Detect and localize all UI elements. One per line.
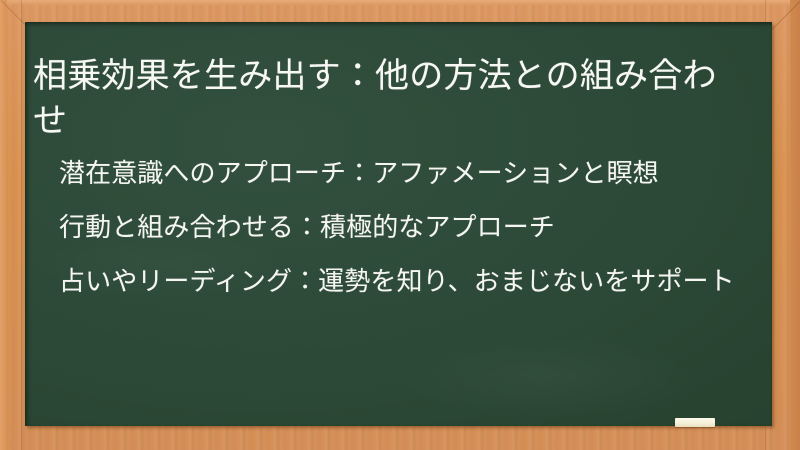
- list-item: 潜在意識へのアプローチ：アファメーションと瞑想: [59, 155, 753, 192]
- chalkboard-surface: 相乗効果を生み出す：他の方法との組み合わせ 潜在意識へのアプローチ：アファメーシ…: [25, 22, 772, 426]
- list-item: 占いやリーディング：運勢を知り、おまじないをサポート: [59, 263, 753, 300]
- frame-bevel-right: [790, 0, 800, 450]
- frame-bevel-left: [0, 0, 7, 450]
- bullet-list: 潜在意識へのアプローチ：アファメーションと瞑想 行動と組み合わせる：積極的なアプ…: [59, 155, 753, 300]
- page-title: 相乗効果を生み出す：他の方法との組み合わせ: [33, 54, 749, 144]
- list-item: 行動と組み合わせる：積極的なアプローチ: [59, 209, 753, 246]
- chalk-stick-icon: [675, 418, 715, 427]
- frame-bevel-top: [0, 0, 800, 5]
- frame-seam-left: [21, 0, 22, 450]
- chalkboard-slide: 相乗効果を生み出す：他の方法との組み合わせ 潜在意識へのアプローチ：アファメーシ…: [0, 0, 800, 450]
